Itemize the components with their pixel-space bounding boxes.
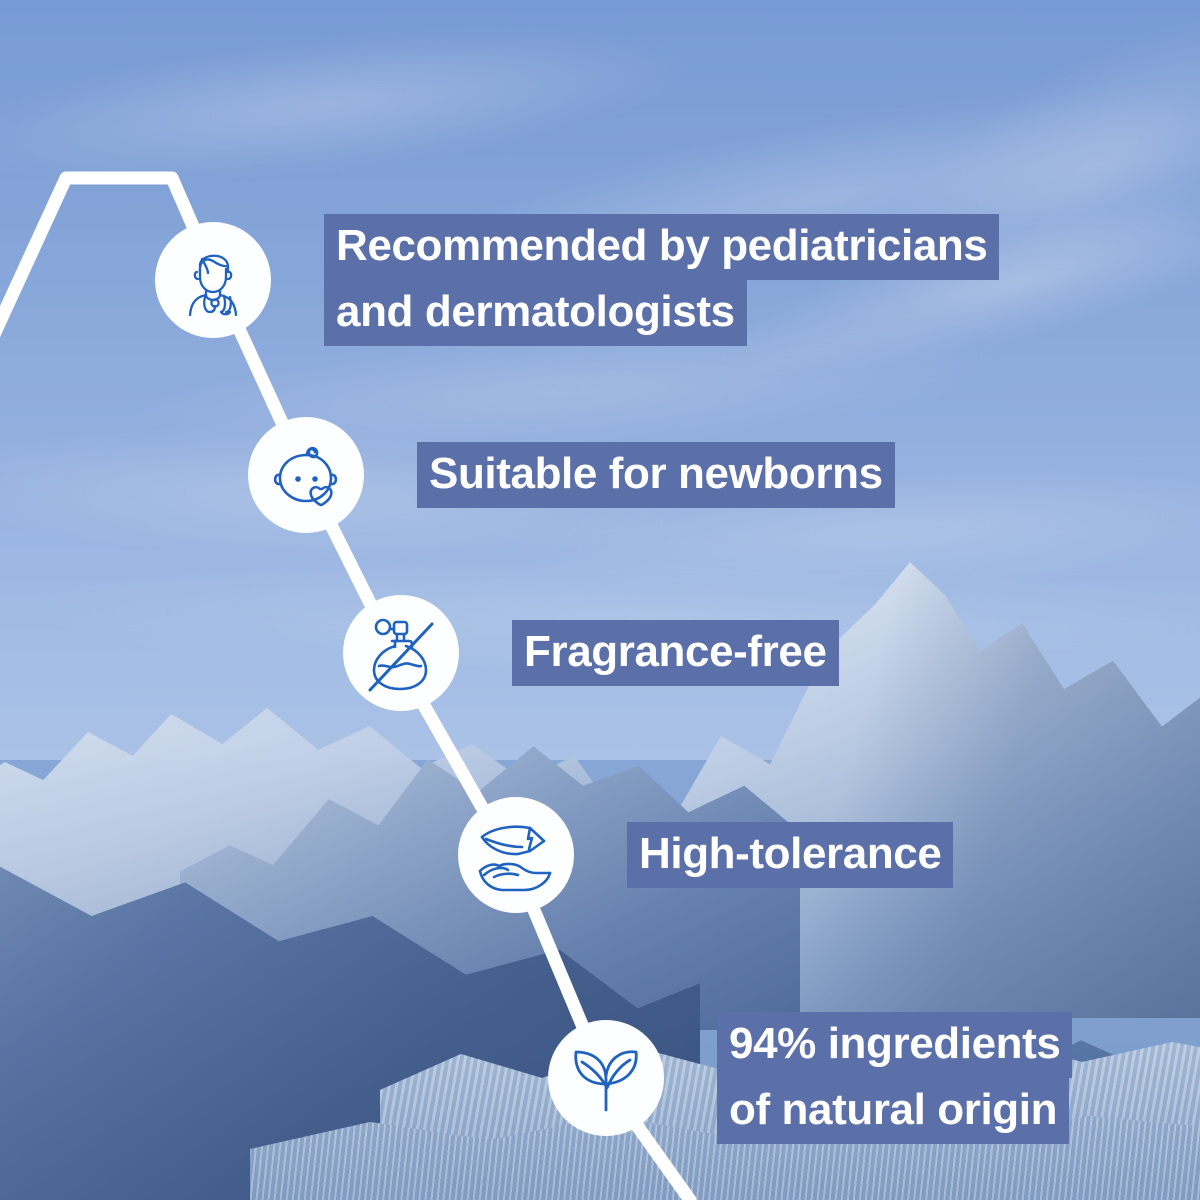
feature-row-high-tolerance: High-tolerance — [458, 797, 953, 913]
icon-bubble-pediatricians — [155, 222, 271, 338]
feature-label-line: and dermatologists — [324, 280, 747, 346]
feature-label-line: Recommended by pediatricians — [324, 214, 999, 280]
leaf-plant-icon — [564, 1036, 648, 1120]
feature-label-line: 94% ingredients — [717, 1012, 1072, 1078]
no-fragrance-icon — [358, 610, 444, 696]
feature-label-line: High-tolerance — [627, 822, 953, 888]
feature-row-pediatricians: Recommended by pediatricians and dermato… — [155, 214, 999, 346]
label-group-high-tolerance: High-tolerance — [627, 822, 953, 888]
label-group-natural-origin: 94% ingredients of natural origin — [717, 1012, 1072, 1144]
label-group-pediatricians: Recommended by pediatricians and dermato… — [324, 214, 999, 346]
feature-row-natural-origin: 94% ingredients of natural origin — [548, 1012, 1072, 1144]
baby-face-icon — [264, 433, 348, 517]
feature-label-line: Suitable for newborns — [417, 442, 895, 508]
icon-bubble-high-tolerance — [458, 797, 574, 913]
feature-row-newborns: Suitable for newborns — [248, 417, 895, 533]
icon-bubble-newborns — [248, 417, 364, 533]
label-group-newborns: Suitable for newborns — [417, 442, 895, 508]
doctor-icon — [172, 239, 254, 321]
feature-label-line: of natural origin — [717, 1078, 1069, 1144]
feather-hand-icon — [472, 811, 560, 899]
icon-bubble-fragrance-free — [343, 595, 459, 711]
icon-bubble-natural-origin — [548, 1020, 664, 1136]
feature-label-line: Fragrance-free — [512, 620, 839, 686]
feature-row-fragrance-free: Fragrance-free — [343, 595, 839, 711]
label-group-fragrance-free: Fragrance-free — [512, 620, 839, 686]
